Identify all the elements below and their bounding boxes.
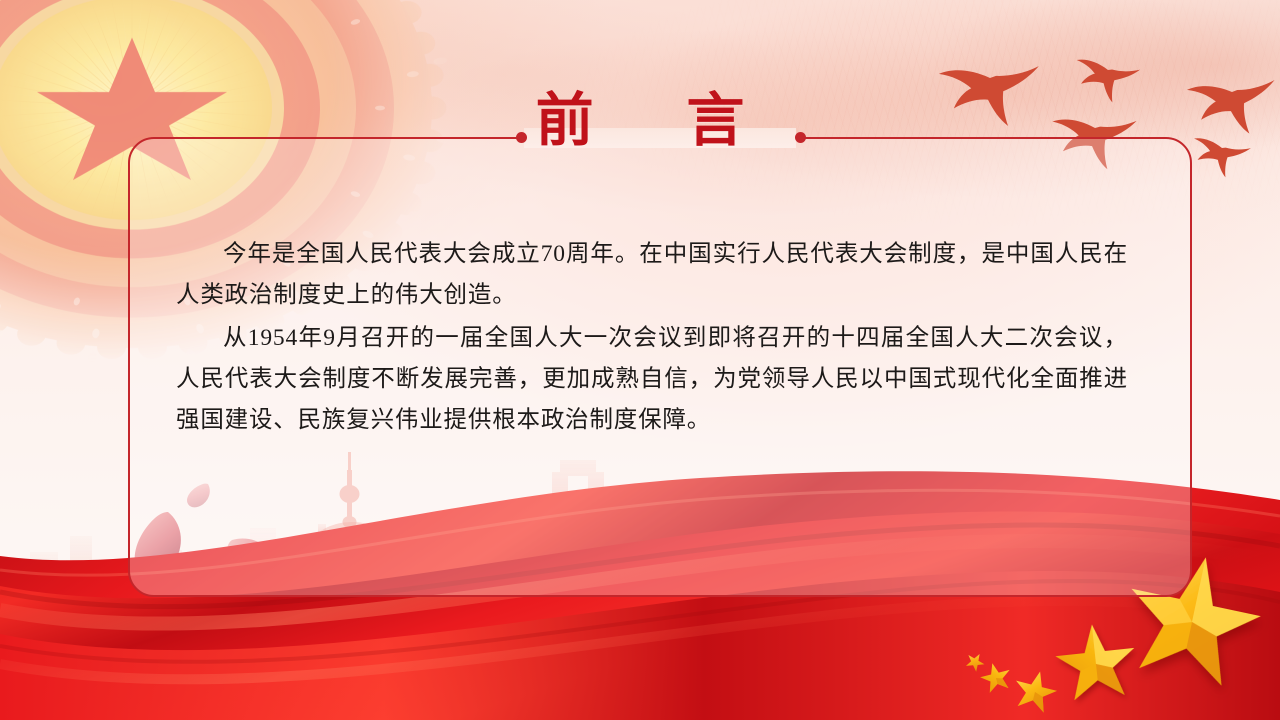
- gold-star-small-a: [1010, 666, 1060, 714]
- preface-body: 今年是全国人民代表大会成立70周年。在中国实行人民代表大会制度，是中国人民在人类…: [176, 234, 1128, 443]
- gold-star-small-b: [978, 660, 1014, 695]
- slide-canvas: 前 言 今年是全国人民代表大会成立70周年。在中国实行人民代表大会制度，是中国人…: [0, 0, 1280, 720]
- paragraph-1: 今年是全国人民代表大会成立70周年。在中国实行人民代表大会制度，是中国人民在人类…: [176, 234, 1128, 316]
- paragraph-2: 从1954年9月召开的一届全国人大一次会议到即将召开的十四届全国人大二次会议，人…: [176, 318, 1128, 441]
- page-title: 前 言: [0, 92, 1280, 150]
- gold-star-tiny: [963, 649, 988, 673]
- gold-star-medium: [1052, 620, 1138, 701]
